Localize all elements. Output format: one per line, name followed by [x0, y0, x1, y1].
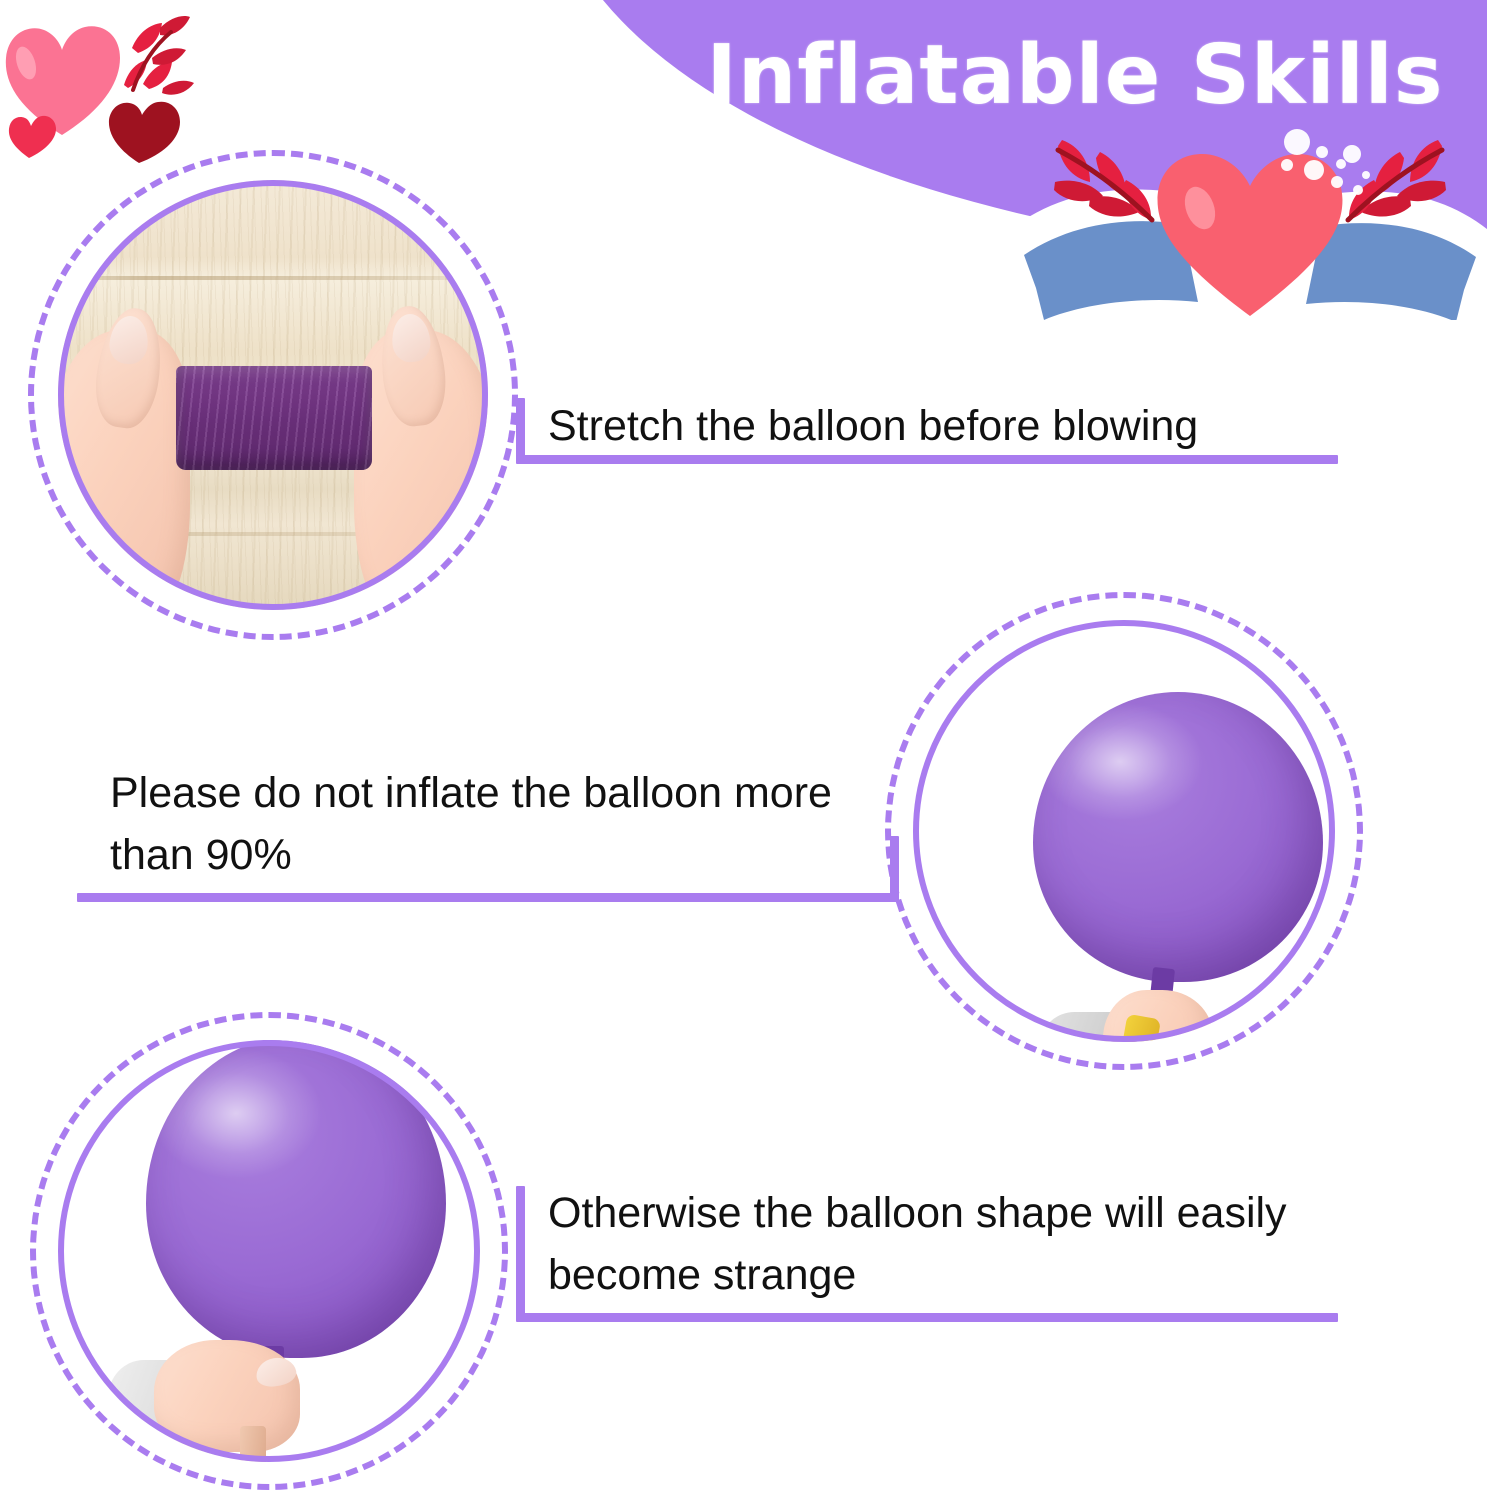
solid-ring — [58, 180, 488, 610]
header-heart-decoration — [1000, 120, 1487, 320]
step-2-underline — [77, 893, 899, 902]
step-1-photo — [28, 150, 518, 640]
laurel-leaf-icon — [124, 16, 194, 95]
page-title: Inflatable Skills — [660, 28, 1487, 123]
step-2-caption-line-1: Please do not inflate the balloon more — [110, 762, 900, 824]
step-2-caption: Please do not inflate the balloon more t… — [110, 762, 900, 886]
step-2-underline-tick — [890, 836, 899, 898]
step-3-caption-line-1: Otherwise the balloon shape will easily — [548, 1182, 1358, 1244]
step-2-caption-line-2: than 90% — [110, 824, 900, 886]
step-3-caption-line-2: become strange — [548, 1244, 1358, 1306]
step-3-underline — [516, 1313, 1338, 1322]
step-2-photo — [885, 592, 1363, 1070]
step-3-photo — [30, 1012, 508, 1490]
infographic-page: Inflatable Skills — [0, 0, 1487, 1500]
step-1-underline-tick — [516, 398, 525, 460]
heart-icon — [9, 116, 56, 158]
top-left-decoration — [0, 0, 230, 190]
solid-ring — [58, 1040, 480, 1462]
step-1-caption: Stretch the balloon before blowing — [548, 395, 1348, 457]
solid-ring — [913, 620, 1335, 1042]
heart-icon — [109, 102, 180, 163]
step-1-underline — [516, 455, 1338, 464]
step-3-caption: Otherwise the balloon shape will easily … — [548, 1182, 1358, 1306]
step-3-underline-tick — [516, 1186, 525, 1318]
